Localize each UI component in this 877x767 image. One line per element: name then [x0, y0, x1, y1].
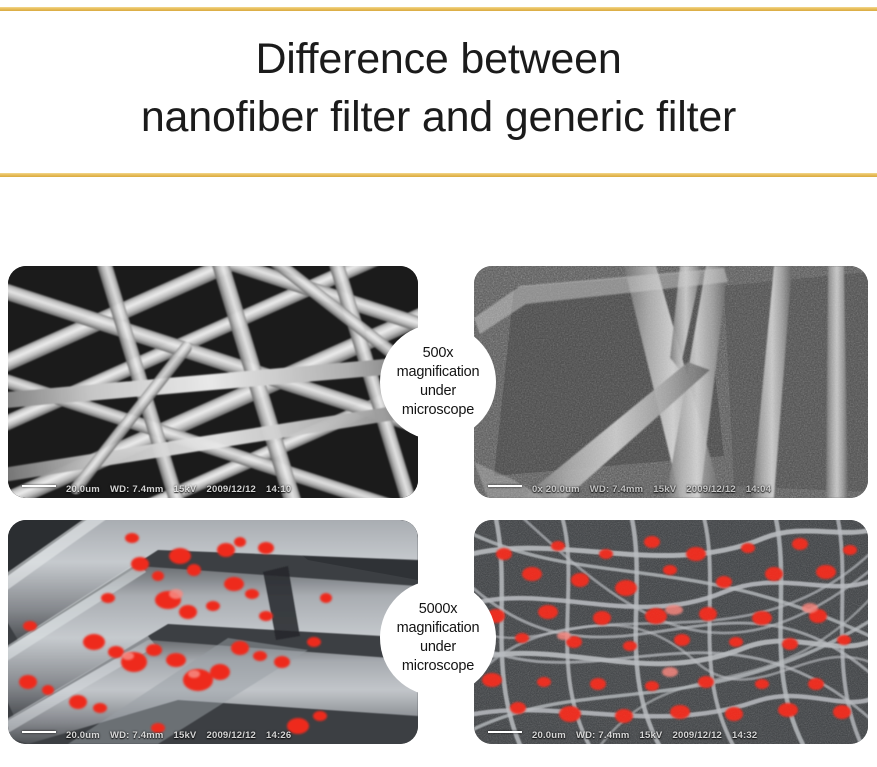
sem-image-generic-5000x [8, 520, 418, 744]
callout-5000x-line-3: under [420, 638, 456, 657]
micrograph-top-left[interactable]: 20.0um WD: 7.4mm 15kV 2009/12/12 14:10 [8, 266, 418, 498]
micrograph-bottom-right[interactable]: 20.0um WD: 7.4mm 15kV 2009/12/12 14:32 [474, 520, 868, 744]
callout-500x-magnification: 500x magnification under microscope [380, 324, 496, 440]
page-title: Difference between nanofiber filter and … [0, 30, 877, 146]
sem-image-generic-500x [8, 266, 418, 498]
micrograph-top-right[interactable]: 0x 20.0um WD: 7.4mm 15kV 2009/12/12 14:0… [474, 266, 868, 498]
sem-image-nanofiber-500x [474, 266, 868, 498]
callout-500x-line-1: 500x [423, 344, 454, 363]
sem-image-nanofiber-5000x [474, 520, 868, 744]
callout-500x-line-2: magnification [397, 363, 480, 382]
callout-500x-line-3: under [420, 382, 456, 401]
micrograph-bottom-left[interactable]: 20.0um WD: 7.4mm 15kV 2009/12/12 14:26 [8, 520, 418, 744]
divider-rule-top [0, 7, 877, 11]
callout-5000x-line-2: magnification [397, 619, 480, 638]
page-title-line-1: Difference between [0, 30, 877, 88]
callout-500x-line-4: microscope [402, 401, 474, 420]
callout-5000x-magnification: 5000x magnification under microscope [380, 580, 496, 696]
page-title-line-2: nanofiber filter and generic filter [0, 88, 877, 146]
callout-5000x-line-4: microscope [402, 657, 474, 676]
callout-5000x-line-1: 5000x [419, 600, 458, 619]
divider-rule-bottom [0, 173, 877, 177]
poster-root: Difference between nanofiber filter and … [0, 0, 877, 767]
